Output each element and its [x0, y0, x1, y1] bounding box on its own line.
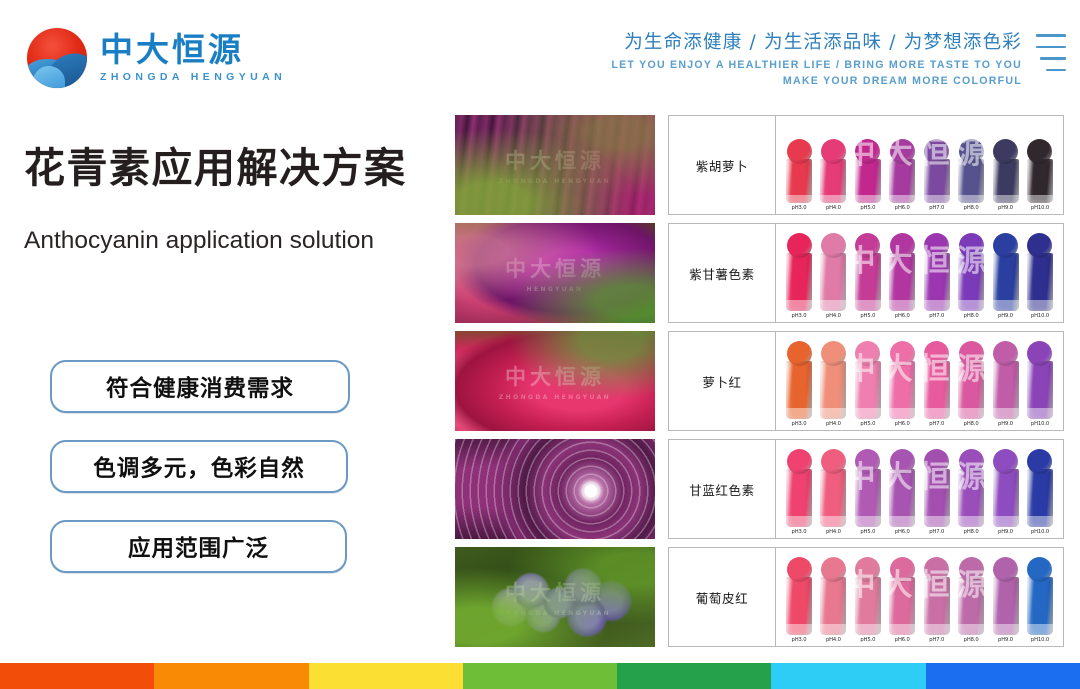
ph-value-label: pH9.0 [998, 637, 1013, 643]
color-bar-segment [0, 663, 154, 689]
ph-value-label: pH10.0 [1031, 205, 1049, 211]
ph-sample-vial: pH9.0 [991, 449, 1021, 536]
vial-body [889, 577, 915, 635]
slogan-en-line2: MAKE YOUR DREAM MORE COLORFUL [611, 75, 1022, 87]
brand-name-cn: 中大恒源 [100, 33, 286, 68]
slogan-cn: 为生命添健康 / 为生活添品味 / 为梦想添色彩 [611, 31, 1022, 54]
ph-sample-vial: pH4.0 [818, 233, 848, 320]
ph-vial-strip: 中大恒源pH3.0pH4.0pH5.0pH6.0pH7.0pH8.0pH9.0p… [776, 548, 1063, 646]
pigment-name-cell: 紫胡萝卜 [669, 116, 776, 214]
vial-cap [924, 341, 949, 366]
vial-body [786, 469, 812, 527]
vial-cap [787, 449, 812, 474]
vial-cap [821, 233, 846, 258]
vial-cap [959, 139, 984, 164]
vial-cap [959, 557, 984, 582]
pigment-name-cell: 紫甘薯色素 [669, 224, 776, 322]
vial-body [786, 253, 812, 311]
vial-body [855, 361, 881, 419]
ph-sample-vial: pH7.0 [922, 449, 952, 536]
vial-body [958, 159, 984, 203]
vial-body [786, 159, 812, 203]
vial-body [924, 469, 950, 527]
purple-sweet-potato-photo: 中大恒源HENGYUAN [455, 223, 655, 323]
vial-body [1027, 469, 1053, 527]
footer-color-bar [0, 663, 1080, 689]
ph-sample-vial: pH8.0 [956, 449, 986, 536]
table-row: 萝卜红中大恒源pH3.0pH4.0pH5.0pH6.0pH7.0pH8.0pH9… [668, 331, 1064, 431]
ph-sample-vial: pH8.0 [956, 557, 986, 644]
ph-vial-strip: 中大恒源pH3.0pH4.0pH5.0pH6.0pH7.0pH8.0pH9.0p… [776, 332, 1063, 430]
feature-pill-label: 应用范围广泛 [128, 531, 269, 563]
vial-cap [787, 341, 812, 366]
pigment-name-cell: 萝卜红 [669, 332, 776, 430]
color-bar-segment [154, 663, 308, 689]
color-bar-segment [617, 663, 771, 689]
ph-sample-vial: pH3.0 [784, 139, 814, 212]
ph-value-label: pH9.0 [998, 421, 1013, 427]
table-row: 紫胡萝卜中大恒源pH3.0pH4.0pH5.0pH6.0pH7.0pH8.0pH… [668, 115, 1064, 215]
feature-pill-label: 色调多元，色彩自然 [93, 451, 305, 483]
ph-sample-vial: pH8.0 [956, 139, 986, 212]
ph-sample-vial: pH10.0 [1025, 341, 1055, 428]
vial-cap [821, 557, 846, 582]
feature-pill[interactable]: 色调多元，色彩自然 [50, 440, 348, 493]
ph-sample-vial: pH8.0 [956, 233, 986, 320]
ph-vial-strip: 中大恒源pH3.0pH4.0pH5.0pH6.0pH7.0pH8.0pH9.0p… [776, 224, 1063, 322]
ph-sample-vial: pH7.0 [922, 557, 952, 644]
ph-sample-vial: pH6.0 [887, 139, 917, 212]
decorative-lines-icon [1036, 34, 1066, 71]
left-panel: 花青素应用解决方案 Anthocyanin application soluti… [0, 112, 450, 652]
vial-cap [855, 557, 880, 582]
vial-cap [924, 139, 949, 164]
ph-sample-vial: pH9.0 [991, 557, 1021, 644]
vial-body [855, 577, 881, 635]
vial-cap [1027, 233, 1052, 258]
photo-watermark: 中大恒源HENGYUAN [455, 223, 655, 323]
ph-value-label: pH7.0 [929, 205, 944, 211]
vial-cap [821, 341, 846, 366]
vial-body [1027, 577, 1053, 635]
feature-pill-list: 符合健康消费需求 色调多元，色彩自然 应用范围广泛 [50, 360, 390, 600]
ph-sample-vial: pH3.0 [784, 449, 814, 536]
vial-cap [959, 449, 984, 474]
vial-body [958, 361, 984, 419]
vial-body [1027, 159, 1053, 203]
ph-value-label: pH3.0 [792, 205, 807, 211]
brand-slogan: 为生命添健康 / 为生活添品味 / 为梦想添色彩 LET YOU ENJOY A… [611, 31, 1022, 87]
ph-sample-vial: pH5.0 [853, 139, 883, 212]
ph-sample-vial: pH9.0 [991, 233, 1021, 320]
ph-value-label: pH10.0 [1031, 313, 1049, 319]
ph-value-label: pH8.0 [964, 637, 979, 643]
ph-value-label: pH7.0 [929, 421, 944, 427]
vial-cap [855, 449, 880, 474]
vial-body [924, 577, 950, 635]
photo-watermark [455, 439, 655, 539]
sun-over-waves-logo-icon [27, 28, 87, 88]
vial-body [1027, 253, 1053, 311]
vial-body [958, 469, 984, 527]
ph-value-label: pH3.0 [792, 313, 807, 319]
ph-value-label: pH5.0 [860, 313, 875, 319]
purple-carrot-photo: 中大恒源ZHONGDA HENGYUAN [455, 115, 655, 215]
vial-body [820, 253, 846, 311]
vial-cap [924, 233, 949, 258]
vial-body [889, 253, 915, 311]
ph-sample-vial: pH10.0 [1025, 233, 1055, 320]
feature-pill[interactable]: 应用范围广泛 [50, 520, 347, 573]
ph-comparison-table: 紫胡萝卜中大恒源pH3.0pH4.0pH5.0pH6.0pH7.0pH8.0pH… [668, 115, 1064, 655]
vial-cap [924, 557, 949, 582]
ph-value-label: pH5.0 [860, 637, 875, 643]
ph-value-label: pH4.0 [826, 205, 841, 211]
ph-sample-vial: pH7.0 [922, 233, 952, 320]
ph-value-label: pH3.0 [792, 421, 807, 427]
vial-cap [890, 449, 915, 474]
grape-photo: 中大恒源ZHONGDA HENGYUAN [455, 547, 655, 647]
color-bar-segment [771, 663, 925, 689]
photo-watermark: 中大恒源ZHONGDA HENGYUAN [455, 115, 655, 215]
ph-sample-vial: pH5.0 [853, 341, 883, 428]
slide-root: 中大恒源 ZHONGDA HENGYUAN 为生命添健康 / 为生活添品味 / … [0, 0, 1080, 689]
ph-value-label: pH8.0 [964, 205, 979, 211]
ph-value-label: pH6.0 [895, 313, 910, 319]
ph-sample-vial: pH3.0 [784, 557, 814, 644]
ph-value-label: pH9.0 [998, 313, 1013, 319]
vial-body [924, 253, 950, 311]
ph-sample-vial: pH4.0 [818, 557, 848, 644]
ph-sample-vial: pH9.0 [991, 139, 1021, 212]
ph-value-label: pH5.0 [860, 205, 875, 211]
table-row: 甘蓝红色素中大恒源pH3.0pH4.0pH5.0pH6.0pH7.0pH8.0p… [668, 439, 1064, 539]
ph-sample-vial: pH5.0 [853, 557, 883, 644]
vial-cap [855, 233, 880, 258]
table-row: 葡萄皮红中大恒源pH3.0pH4.0pH5.0pH6.0pH7.0pH8.0pH… [668, 547, 1064, 647]
vial-cap [855, 341, 880, 366]
page-title-en: Anthocyanin application solution [24, 224, 394, 259]
ph-sample-vial: pH8.0 [956, 341, 986, 428]
color-bar-segment [926, 663, 1080, 689]
vial-body [993, 253, 1019, 311]
ph-sample-vial: pH5.0 [853, 233, 883, 320]
vial-body [958, 253, 984, 311]
vial-body [889, 469, 915, 527]
ph-sample-vial: pH9.0 [991, 341, 1021, 428]
ph-sample-vial: pH3.0 [784, 341, 814, 428]
vial-cap [993, 449, 1018, 474]
vial-cap [959, 341, 984, 366]
ph-value-label: pH8.0 [964, 421, 979, 427]
vial-body [820, 577, 846, 635]
vial-cap [890, 341, 915, 366]
ph-sample-vial: pH10.0 [1025, 139, 1055, 212]
vial-body [1027, 361, 1053, 419]
vial-cap [821, 449, 846, 474]
ph-vial-strip: 中大恒源pH3.0pH4.0pH5.0pH6.0pH7.0pH8.0pH9.0p… [776, 440, 1063, 538]
brand-logo: 中大恒源 ZHONGDA HENGYUAN [27, 28, 286, 88]
vial-body [786, 577, 812, 635]
ph-value-label: pH6.0 [895, 205, 910, 211]
ph-value-label: pH6.0 [895, 421, 910, 427]
vial-body [820, 159, 846, 203]
vial-cap [787, 139, 812, 164]
ph-value-label: pH7.0 [929, 637, 944, 643]
red-radish-photo: 中大恒源ZHONGDA HENGYUAN [455, 331, 655, 431]
feature-pill[interactable]: 符合健康消费需求 [50, 360, 350, 413]
vial-body [993, 577, 1019, 635]
vial-cap [1027, 139, 1052, 164]
ph-sample-vial: pH10.0 [1025, 557, 1055, 644]
ph-sample-vial: pH6.0 [887, 557, 917, 644]
ph-sample-vial: pH10.0 [1025, 449, 1055, 536]
ph-sample-vial: pH7.0 [922, 341, 952, 428]
ph-value-label: pH4.0 [826, 637, 841, 643]
ph-sample-vial: pH4.0 [818, 139, 848, 212]
vial-cap [890, 557, 915, 582]
vial-body [855, 469, 881, 527]
ph-sample-vial: pH6.0 [887, 449, 917, 536]
color-bar-segment [309, 663, 463, 689]
vial-cap [855, 139, 880, 164]
ph-value-label: pH3.0 [792, 529, 807, 535]
source-photo-column: 中大恒源ZHONGDA HENGYUAN 中大恒源HENGYUAN 中大恒源ZH… [455, 115, 655, 655]
pigment-name-cell: 葡萄皮红 [669, 548, 776, 646]
vial-body [889, 361, 915, 419]
table-row: 紫甘薯色素中大恒源pH3.0pH4.0pH5.0pH6.0pH7.0pH8.0p… [668, 223, 1064, 323]
ph-sample-vial: pH5.0 [853, 449, 883, 536]
ph-sample-vial: pH4.0 [818, 341, 848, 428]
ph-value-label: pH5.0 [860, 529, 875, 535]
vial-cap [993, 139, 1018, 164]
vial-cap [993, 341, 1018, 366]
color-bar-segment [463, 663, 617, 689]
vial-cap [890, 233, 915, 258]
vial-body [786, 361, 812, 419]
ph-value-label: pH7.0 [929, 529, 944, 535]
vial-cap [1027, 449, 1052, 474]
vial-body [889, 159, 915, 203]
vial-body [993, 159, 1019, 203]
ph-value-label: pH5.0 [860, 421, 875, 427]
photo-watermark: 中大恒源ZHONGDA HENGYUAN [455, 547, 655, 647]
ph-vial-strip: 中大恒源pH3.0pH4.0pH5.0pH6.0pH7.0pH8.0pH9.0p… [776, 116, 1063, 214]
ph-sample-vial: pH6.0 [887, 233, 917, 320]
ph-value-label: pH4.0 [826, 421, 841, 427]
vial-body [958, 577, 984, 635]
ph-value-label: pH6.0 [895, 529, 910, 535]
vial-cap [1027, 557, 1052, 582]
ph-sample-vial: pH6.0 [887, 341, 917, 428]
ph-value-label: pH4.0 [826, 529, 841, 535]
vial-cap [1027, 341, 1052, 366]
brand-name-en: ZHONGDA HENGYUAN [100, 71, 286, 83]
ph-value-label: pH10.0 [1031, 421, 1049, 427]
brand-logo-text: 中大恒源 ZHONGDA HENGYUAN [100, 33, 286, 84]
ph-value-label: pH9.0 [998, 529, 1013, 535]
feature-pill-label: 符合健康消费需求 [106, 371, 294, 403]
ph-value-label: pH9.0 [998, 205, 1013, 211]
vial-cap [924, 449, 949, 474]
vial-cap [890, 139, 915, 164]
ph-sample-vial: pH4.0 [818, 449, 848, 536]
vial-body [993, 469, 1019, 527]
vial-body [993, 361, 1019, 419]
ph-value-label: pH8.0 [964, 313, 979, 319]
ph-value-label: pH10.0 [1031, 637, 1049, 643]
vial-body [924, 361, 950, 419]
purple-cabbage-photo [455, 439, 655, 539]
vial-cap [787, 233, 812, 258]
vial-body [855, 159, 881, 203]
vial-cap [993, 557, 1018, 582]
ph-value-label: pH3.0 [792, 637, 807, 643]
page-title-cn: 花青素应用解决方案 [24, 134, 407, 194]
ph-value-label: pH8.0 [964, 529, 979, 535]
vial-body [820, 469, 846, 527]
ph-value-label: pH7.0 [929, 313, 944, 319]
pigment-name-cell: 甘蓝红色素 [669, 440, 776, 538]
vial-body [924, 159, 950, 203]
ph-value-label: pH6.0 [895, 637, 910, 643]
vial-cap [821, 139, 846, 164]
header: 中大恒源 ZHONGDA HENGYUAN 为生命添健康 / 为生活添品味 / … [0, 0, 1080, 108]
ph-sample-vial: pH7.0 [922, 139, 952, 212]
vial-cap [959, 233, 984, 258]
vial-body [855, 253, 881, 311]
slogan-en-line1: LET YOU ENJOY A HEALTHIER LIFE / BRING M… [611, 59, 1022, 71]
vial-cap [993, 233, 1018, 258]
ph-value-label: pH4.0 [826, 313, 841, 319]
photo-watermark: 中大恒源ZHONGDA HENGYUAN [455, 331, 655, 431]
ph-sample-vial: pH3.0 [784, 233, 814, 320]
ph-value-label: pH10.0 [1031, 529, 1049, 535]
vial-body [820, 361, 846, 419]
vial-cap [787, 557, 812, 582]
